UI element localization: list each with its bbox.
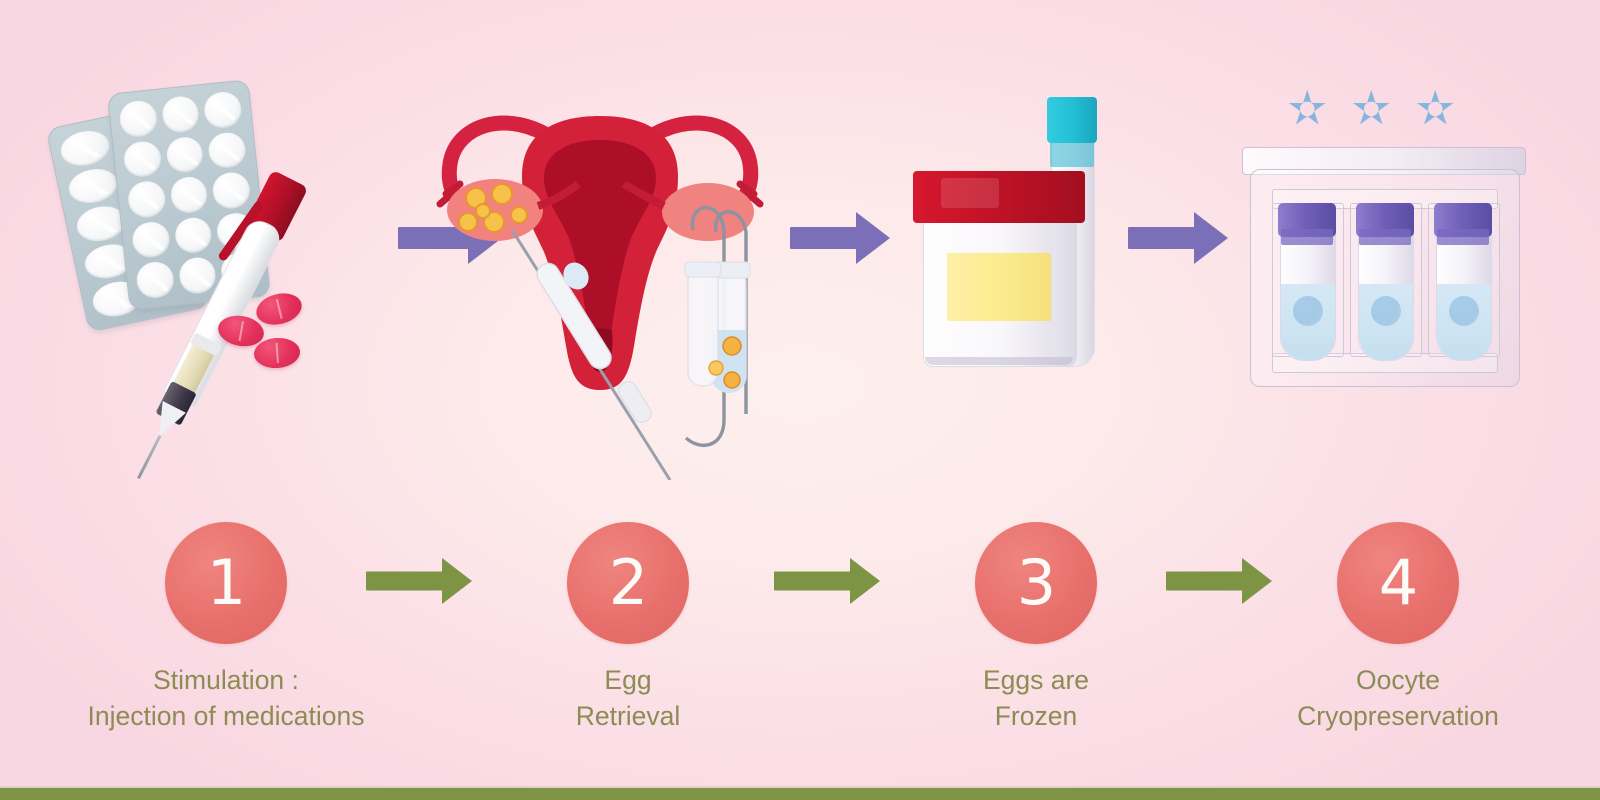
bottom-accent-bar <box>0 788 1600 800</box>
illustration-cryo-storage: ✫ ✫ ✫ <box>1240 85 1530 405</box>
frozen-oocyte <box>1371 296 1401 326</box>
retrieved-egg <box>709 361 723 375</box>
specimen-cup-base <box>925 357 1073 365</box>
step-label: Egg Retrieval <box>478 662 778 734</box>
infographic-canvas: ✫ ✫ ✫ <box>0 0 1600 800</box>
step-2: 2 Egg Retrieval <box>478 522 778 734</box>
tablet-in-blister <box>126 180 166 219</box>
tablet-in-blister <box>203 90 243 129</box>
frozen-oocyte <box>1293 296 1323 326</box>
cryo-vial-tube <box>1280 229 1336 361</box>
tablet-in-blister <box>160 95 200 134</box>
step-number-badge: 3 <box>975 522 1097 644</box>
step-1: 1 Stimulation : Injection of medications <box>26 522 426 734</box>
tablet-in-blister <box>58 127 113 170</box>
cryo-vial-cap <box>1278 203 1336 237</box>
arrow-retrieval-to-frozen <box>790 212 890 264</box>
frozen-oocyte <box>1449 296 1479 326</box>
tablet-in-blister <box>66 164 121 207</box>
cryo-vial <box>1358 203 1412 359</box>
lid-highlight <box>941 178 999 208</box>
step-label: Eggs are Frozen <box>886 662 1186 734</box>
uterus-diagram-svg <box>420 80 780 480</box>
retrieved-egg <box>724 372 740 388</box>
cryo-vial-cap <box>1434 203 1492 237</box>
collection-tubes <box>685 262 750 393</box>
tablet-in-blister <box>122 139 162 178</box>
right-ovary <box>662 183 754 241</box>
step-number: 1 <box>207 552 245 614</box>
illustration-specimen-container <box>905 85 1135 405</box>
step-label: Stimulation : Injection of medications <box>26 662 426 734</box>
arrow-frozen-to-cryopreservation <box>1128 212 1228 264</box>
arrow-step-2-to-3 <box>774 558 880 604</box>
step-number: 4 <box>1379 552 1417 614</box>
illustration-medications <box>60 70 400 420</box>
pen-needle <box>137 435 161 479</box>
cryo-vial <box>1280 203 1334 359</box>
step-number-badge: 1 <box>165 522 287 644</box>
cryo-vial-cap <box>1356 203 1414 237</box>
snowflake-icon: ✫ <box>1416 85 1455 131</box>
step-4: 4 Oocyte Cryopreservation <box>1248 522 1548 734</box>
step-number-badge: 4 <box>1337 522 1459 644</box>
test-tube-cap <box>1047 97 1097 143</box>
cryo-vial <box>1436 203 1490 359</box>
tablet-in-blister <box>165 135 205 174</box>
tablet-in-blister <box>118 99 158 138</box>
snowflake-icon: ✫ <box>1288 85 1327 131</box>
cryo-vial-tube <box>1436 229 1492 361</box>
step-number: 3 <box>1017 552 1055 614</box>
arrow-step-1-to-2 <box>366 558 472 604</box>
step-label: Oocyte Cryopreservation <box>1248 662 1548 734</box>
step-3: 3 Eggs are Frozen <box>886 522 1186 734</box>
retrieved-egg <box>723 337 741 355</box>
illustration-egg-retrieval <box>420 80 780 480</box>
step-number: 2 <box>609 552 647 614</box>
specimen-cup-label <box>947 253 1051 321</box>
step-number-badge: 2 <box>567 522 689 644</box>
specimen-cup-lid <box>913 171 1085 223</box>
snowflake-icon: ✫ <box>1352 85 1391 131</box>
cryo-vial-tube <box>1358 229 1414 361</box>
